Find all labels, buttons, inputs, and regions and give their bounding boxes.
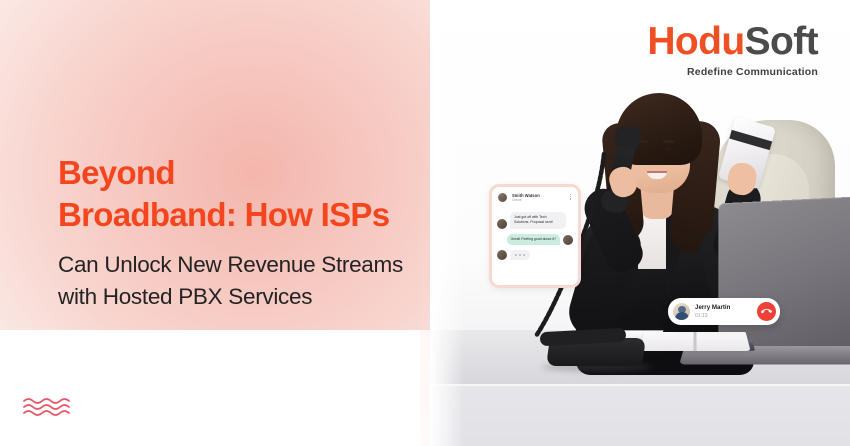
logo-tagline: Redefine Communication (647, 66, 818, 78)
brand-logo[interactable]: HoduSoft Redefine Communication (647, 22, 818, 78)
chat-message-avatar (563, 235, 573, 245)
caller-details: Jerry Martin 01:13 (695, 304, 752, 319)
chat-header: Smith Watson Online (497, 192, 573, 207)
chat-bubble-outgoing: Great! Feeling good about it? (507, 234, 560, 245)
phone-hangup-icon (761, 306, 772, 317)
chat-bubble-incoming: Just got off with Tech Solutions. Propos… (510, 212, 566, 229)
logo-word-soft: Soft (745, 20, 818, 63)
caller-name: Jerry Martin (695, 304, 752, 312)
chat-widget-overlay[interactable]: Smith Watson Online Just got off with Te… (489, 184, 581, 288)
subheadline-line-1: Can Unlock New Revenue Streams (58, 249, 458, 281)
logo-wordmark: HoduSoft (647, 22, 818, 61)
kebab-menu-icon[interactable] (570, 194, 571, 200)
chat-contact-avatar (497, 192, 508, 203)
chat-contact-info: Smith Watson Online (512, 193, 540, 202)
person-eyebrow-right (663, 140, 674, 143)
logo-word-hodu: Hodu (647, 20, 744, 63)
hero-copy-block: Beyond Broadband: How ISPs Can Unlock Ne… (58, 152, 458, 313)
call-duration-timer: 01:13 (695, 313, 752, 320)
active-call-card[interactable]: Jerry Martin 01:13 (668, 298, 780, 325)
wave-squiggle-icon (22, 396, 76, 418)
chat-message-row-incoming: Just got off with Tech Solutions. Propos… (497, 212, 573, 229)
headline-line-2: Broadband: How ISPs (58, 194, 458, 236)
caller-avatar (673, 303, 690, 320)
notebook-spine (693, 332, 696, 351)
page-title: Beyond Broadband: How ISPs (58, 152, 458, 236)
chat-message-avatar (497, 250, 507, 260)
headline-line-1: Beyond (58, 152, 458, 194)
end-call-button[interactable] (757, 302, 776, 321)
laptop-screen-lid (718, 196, 850, 352)
page-subtitle: Can Unlock New Revenue Streams with Host… (58, 249, 458, 313)
desk-front-panel (430, 386, 850, 446)
chat-message-row-typing (497, 250, 573, 260)
chat-contact-status: Online (512, 198, 540, 202)
subheadline-line-2: with Hosted PBX Services (58, 281, 458, 313)
banner-root: Smith Watson Online Just got off with Te… (0, 0, 850, 446)
credit-card-magnetic-stripe (729, 130, 772, 150)
typing-indicator-icon (510, 250, 530, 260)
chat-message-row-outgoing: Great! Feeling good about it? (497, 234, 573, 245)
chat-message-avatar (497, 219, 507, 229)
